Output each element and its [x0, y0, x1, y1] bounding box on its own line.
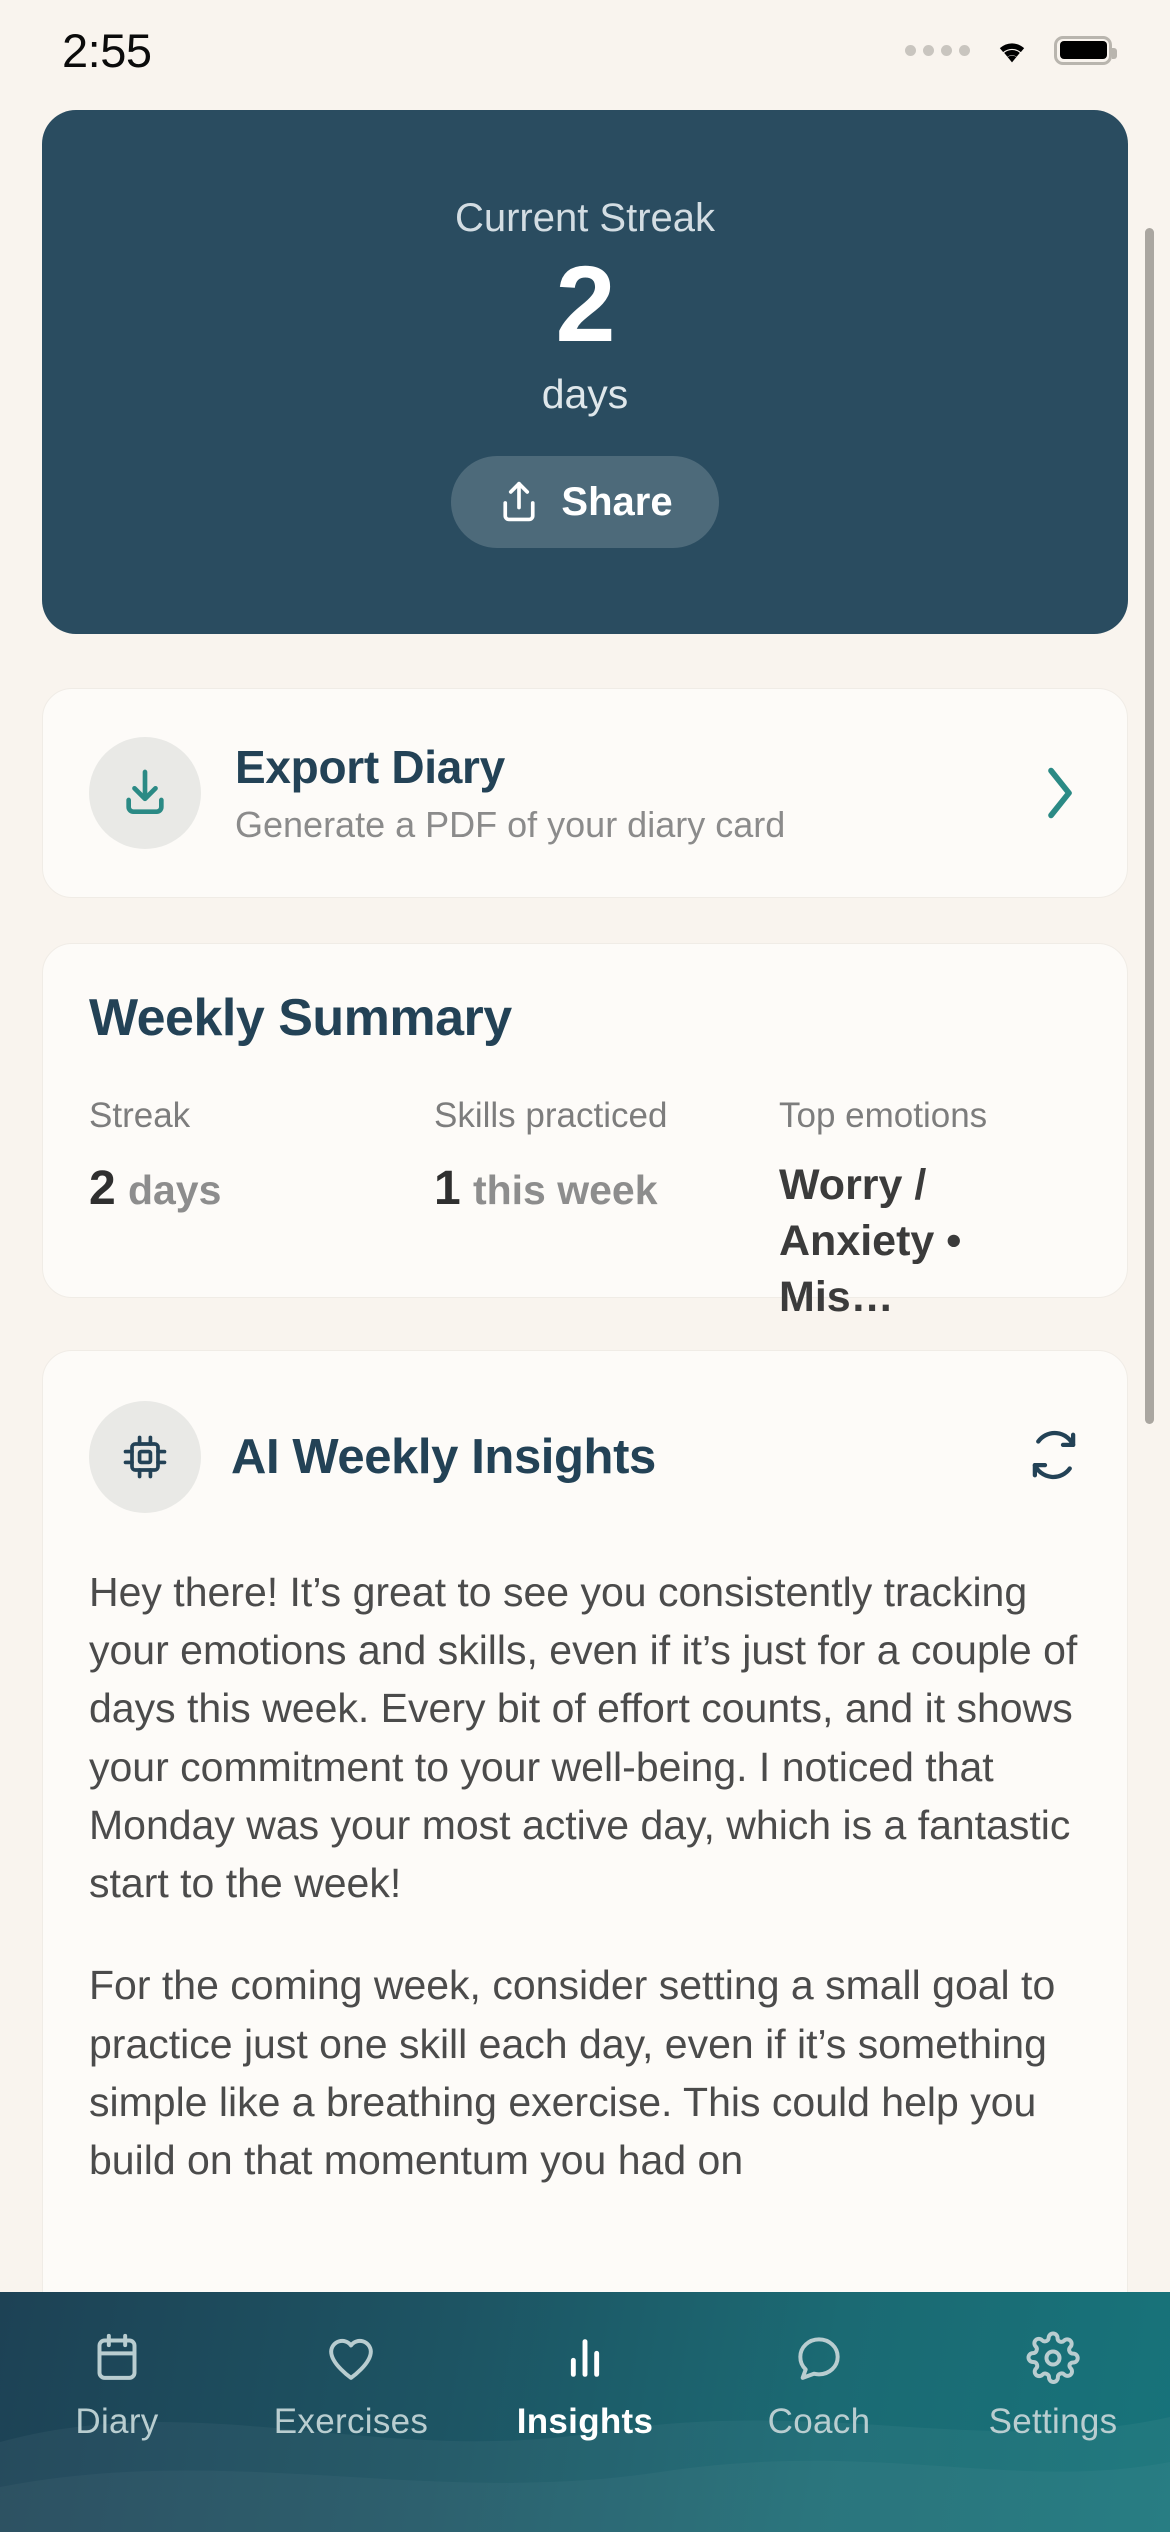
- weekly-summary-card: Weekly Summary Streak 2 days Skills prac…: [42, 943, 1128, 1298]
- heart-icon: [323, 2330, 379, 2386]
- ai-insights-paragraph: For the coming week, consider setting a …: [89, 1956, 1081, 2189]
- status-bar: 2:55: [0, 0, 1170, 100]
- download-icon: [89, 737, 201, 849]
- export-diary-card[interactable]: Export Diary Generate a PDF of your diar…: [42, 688, 1128, 898]
- summary-stat-label: Streak: [89, 1096, 434, 1136]
- ai-insights-header: AI Weekly Insights: [89, 1401, 1081, 1513]
- ai-insights-title: AI Weekly Insights: [231, 1429, 1027, 1485]
- refresh-icon[interactable]: [1027, 1428, 1081, 1487]
- tab-insights[interactable]: Insights: [468, 2330, 702, 2532]
- tab-label: Coach: [768, 2402, 871, 2442]
- chevron-right-icon[interactable]: [1039, 764, 1081, 822]
- chat-bubble-icon: [791, 2330, 847, 2386]
- share-button[interactable]: Share: [451, 456, 718, 548]
- summary-stat-number: 2: [89, 1162, 116, 1215]
- export-diary-title: Export Diary: [235, 740, 1039, 794]
- tab-list: Diary Exercises Insights Coach: [0, 2292, 1170, 2532]
- wifi-icon: [992, 35, 1032, 65]
- streak-value: 2: [555, 247, 614, 361]
- summary-stat-number: 1: [434, 1162, 461, 1215]
- cpu-chip-icon: [89, 1401, 201, 1513]
- summary-stat-value: Worry / Anxiety • Mis…: [779, 1158, 1081, 1326]
- bottom-tab-bar: Diary Exercises Insights Coach: [0, 2292, 1170, 2532]
- summary-stat-skills: Skills practiced 1 this week: [434, 1096, 779, 1326]
- export-diary-text: Export Diary Generate a PDF of your diar…: [235, 740, 1039, 846]
- status-indicators: [905, 35, 1112, 65]
- summary-stat-emotions: Top emotions Worry / Anxiety • Mis…: [779, 1096, 1081, 1326]
- share-button-label: Share: [561, 480, 672, 525]
- weekly-summary-grid: Streak 2 days Skills practiced 1 this we…: [89, 1096, 1081, 1326]
- summary-stat-value: 2 days: [89, 1158, 434, 1219]
- streak-label: Current Streak: [455, 196, 715, 241]
- tab-settings[interactable]: Settings: [936, 2330, 1170, 2532]
- status-time: 2:55: [62, 23, 151, 78]
- tab-label: Settings: [989, 2402, 1118, 2442]
- bar-chart-icon: [557, 2330, 613, 2386]
- tab-label: Exercises: [274, 2402, 428, 2442]
- summary-stat-label: Top emotions: [779, 1096, 1081, 1136]
- summary-stat-streak: Streak 2 days: [89, 1096, 434, 1326]
- vertical-scrollbar[interactable]: [1145, 228, 1154, 1424]
- tab-label: Diary: [75, 2402, 158, 2442]
- ai-insights-body: Hey there! It’s great to see you consist…: [89, 1563, 1081, 2189]
- summary-stat-unit: days: [128, 1167, 221, 1213]
- calendar-icon: [89, 2330, 145, 2386]
- summary-stat-label: Skills practiced: [434, 1096, 779, 1136]
- signal-dots-icon: [905, 45, 970, 56]
- tab-exercises[interactable]: Exercises: [234, 2330, 468, 2532]
- share-upload-icon: [497, 478, 541, 526]
- export-diary-subtitle: Generate a PDF of your diary card: [235, 804, 1039, 846]
- battery-full-icon: [1054, 36, 1112, 65]
- current-streak-card: Current Streak 2 days Share: [42, 110, 1128, 634]
- tab-diary[interactable]: Diary: [0, 2330, 234, 2532]
- scroll-content: Current Streak 2 days Share Export Diary: [0, 100, 1170, 2532]
- summary-stat-value: 1 this week: [434, 1158, 779, 1219]
- streak-unit: days: [542, 371, 629, 418]
- tab-label: Insights: [517, 2402, 654, 2442]
- summary-stat-unit: this week: [473, 1167, 658, 1213]
- weekly-summary-title: Weekly Summary: [89, 988, 1081, 1048]
- ai-insights-paragraph: Hey there! It’s great to see you consist…: [89, 1563, 1081, 1912]
- gear-icon: [1025, 2330, 1081, 2386]
- tab-coach[interactable]: Coach: [702, 2330, 936, 2532]
- app-screen: 2:55 Current Streak 2 days Share: [0, 0, 1170, 2532]
